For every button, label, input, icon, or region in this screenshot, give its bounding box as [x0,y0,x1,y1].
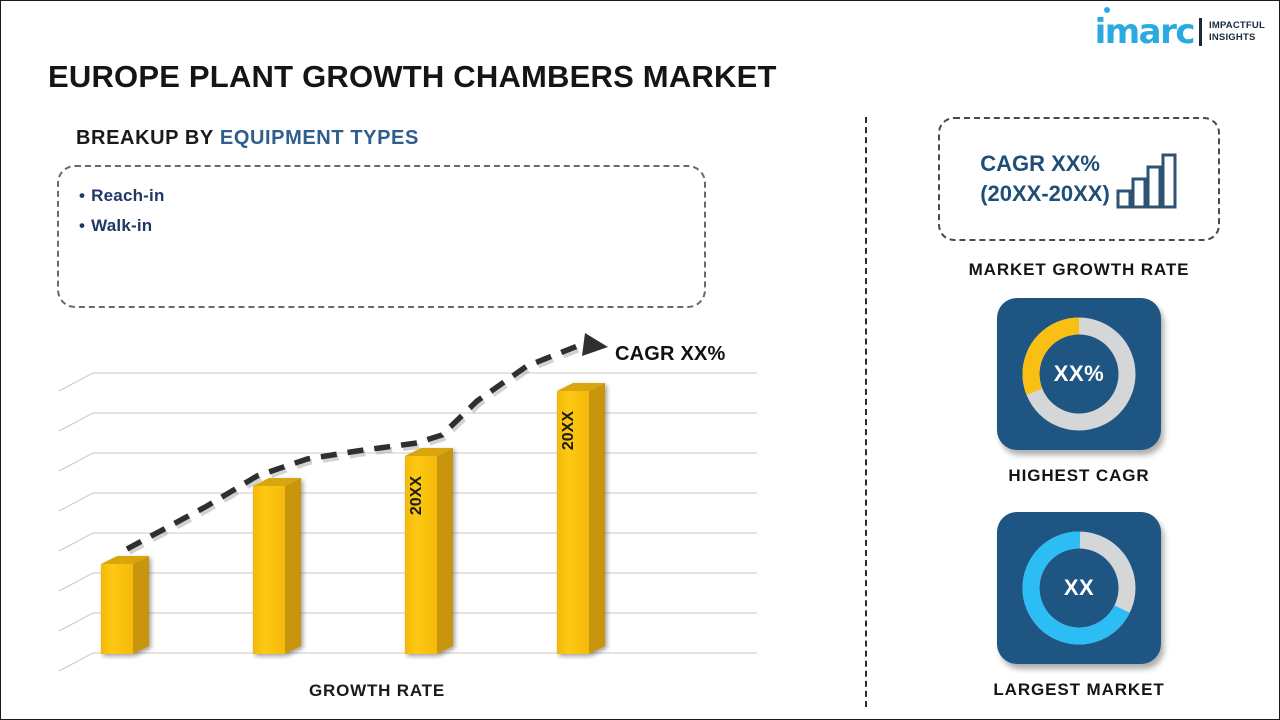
chart-bar-3: 20XX [405,448,453,654]
logo-tagline: IMPACTFUL INSIGHTS [1209,20,1265,44]
highest-cagr-value: XX% [997,361,1161,387]
breakup-heading: BREAKUP BYEQUIPMENT TYPES [76,127,419,150]
chart-bar-1 [101,556,149,654]
chart-bar-2 [253,478,301,654]
cagr-value: CAGR XX% [980,149,1110,179]
chart-trendline [127,333,608,552]
bar-label-3: 20XX [408,476,425,515]
segment-list-box: •Reach-in •Walk-in [57,165,706,308]
slide-canvas: imarc IMPACTFUL INSIGHTS EUROPE PLANT GR… [0,0,1280,720]
segment-label: Walk-in [91,216,152,235]
trendline-arrow-icon [582,333,608,356]
logo-divider [1199,18,1202,46]
chart-bar-4: 20XX [557,383,605,654]
page-title: EUROPE PLANT GROWTH CHAMBERS MARKET [48,59,777,95]
bar-label-4: 20XX [560,411,577,450]
cagr-text: CAGR XX% (20XX-20XX) [980,149,1110,209]
imarc-logo: imarc IMPACTFUL INSIGHTS [1095,11,1265,53]
highest-cagr-caption: HIGHEST CAGR [901,466,1257,486]
highest-cagr-card-wrap: XX% [901,298,1257,450]
chart-svg: 20XX 20XX [57,331,757,676]
chart-x-axis-label: GROWTH RATE [57,681,697,701]
growth-rate-chart: 20XX 20XX CAGR XX% GROWTH RATE [57,331,757,706]
logo-tagline-line2: INSIGHTS [1209,32,1265,44]
logo-tagline-line1: IMPACTFUL [1209,20,1265,32]
vertical-divider [865,117,867,707]
breakup-category: EQUIPMENT TYPES [220,127,419,149]
bullet-icon: • [79,216,85,235]
market-growth-rate-caption: MARKET GROWTH RATE [901,260,1257,280]
largest-market-card-wrap: XX [901,512,1257,664]
market-growth-rate-card: CAGR XX% (20XX-20XX) [938,117,1220,241]
logo-wordmark: imarc [1095,15,1194,49]
cagr-period: (20XX-20XX) [980,179,1110,209]
bullet-icon: • [79,186,85,205]
largest-market-caption: LARGEST MARKET [901,680,1257,700]
list-item: •Walk-in [79,211,684,241]
chart-cagr-annotation: CAGR XX% [615,343,726,366]
list-item: •Reach-in [79,181,684,211]
breakup-prefix: BREAKUP BY [76,127,214,149]
bar-chart-icon [1116,153,1178,209]
highest-cagr-card: XX% [997,298,1161,450]
largest-market-value: XX [997,575,1161,601]
largest-market-card: XX [997,512,1161,664]
logo-dot-icon [1104,7,1110,13]
kpi-column: CAGR XX% (20XX-20XX) MARKET GROWTH RATE … [901,117,1257,700]
segment-label: Reach-in [91,186,164,205]
logo-wordmark-text: imarc [1095,12,1194,52]
